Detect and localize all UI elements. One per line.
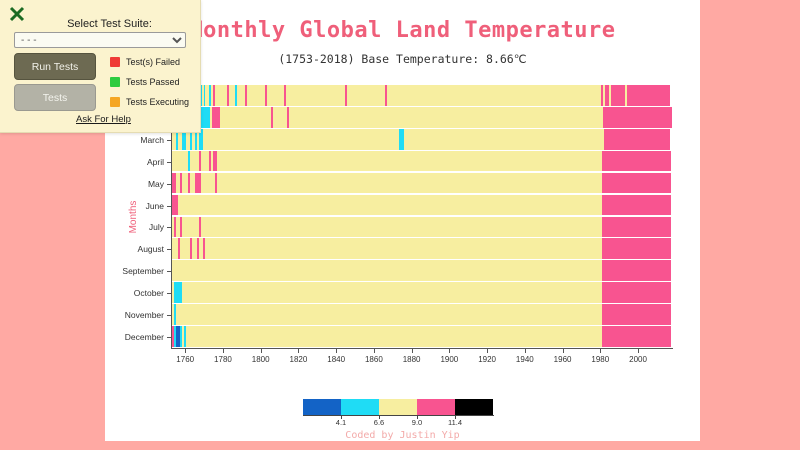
x-tick-mark xyxy=(185,348,186,353)
status-label: Test(s) Failed xyxy=(126,57,180,67)
ask-for-help-link[interactable]: Ask For Help xyxy=(76,114,131,125)
test-suite-label: Select Test Suite: xyxy=(0,18,201,30)
heatmap[interactable] xyxy=(172,85,672,348)
status-label: Tests Executing xyxy=(126,97,189,107)
legend-swatch xyxy=(379,399,417,415)
test-status-row: Tests Executing xyxy=(110,97,189,107)
y-tick-mark xyxy=(167,184,172,185)
x-tick-mark xyxy=(223,348,224,353)
y-tick-mark xyxy=(167,271,172,272)
x-tick-mark xyxy=(449,348,450,353)
x-tick-label: 1940 xyxy=(516,355,534,364)
x-tick-label: 1980 xyxy=(591,355,609,364)
plot-area: Months 176017801800182018401860188019001… xyxy=(172,85,672,348)
heatmap-cell[interactable] xyxy=(670,107,672,128)
test-status-row: Test(s) Failed xyxy=(110,57,180,67)
y-tick-label: June xyxy=(146,201,164,211)
heatmap-row xyxy=(172,304,672,325)
y-tick-mark xyxy=(167,337,172,338)
y-tick-mark xyxy=(167,293,172,294)
heatmap-cell[interactable] xyxy=(669,195,671,216)
heatmap-row xyxy=(172,238,672,259)
legend-swatch xyxy=(417,399,455,415)
legend-tick-label: 6.6 xyxy=(374,418,384,427)
x-tick-mark xyxy=(600,348,601,353)
x-tick-label: 1820 xyxy=(290,355,308,364)
test-status-row: Tests Passed xyxy=(110,77,180,87)
status-color-chip xyxy=(110,77,120,87)
heatmap-cell[interactable] xyxy=(669,151,671,172)
x-tick-label: 1920 xyxy=(478,355,496,364)
x-tick-mark xyxy=(298,348,299,353)
x-tick-label: 1860 xyxy=(365,355,383,364)
x-tick-label: 1880 xyxy=(403,355,421,364)
x-tick-label: 1840 xyxy=(327,355,345,364)
x-tick-mark xyxy=(487,348,488,353)
heatmap-row xyxy=(172,173,672,194)
heatmap-row xyxy=(172,260,672,281)
heatmap-row xyxy=(172,85,672,106)
heatmap-row xyxy=(172,326,672,347)
x-tick-label: 1900 xyxy=(440,355,458,364)
status-color-chip xyxy=(110,97,120,107)
x-tick-label: 1760 xyxy=(176,355,194,364)
x-tick-mark xyxy=(412,348,413,353)
y-tick-mark xyxy=(167,162,172,163)
tests-button[interactable]: Tests xyxy=(14,84,96,111)
y-tick-label: July xyxy=(149,222,164,232)
y-tick-label: November xyxy=(125,310,164,320)
x-tick-mark xyxy=(336,348,337,353)
heatmap-row xyxy=(172,217,672,238)
y-tick-label: March xyxy=(140,135,164,145)
heatmap-cell[interactable] xyxy=(669,260,671,281)
y-tick-label: December xyxy=(125,332,164,342)
heatmap-cell[interactable] xyxy=(669,326,671,347)
y-tick-mark xyxy=(167,206,172,207)
run-tests-button[interactable]: Run Tests xyxy=(14,53,96,80)
heatmap-row xyxy=(172,151,672,172)
y-tick-mark xyxy=(167,249,172,250)
x-tick-mark xyxy=(525,348,526,353)
heatmap-row xyxy=(172,107,672,128)
heatmap-row xyxy=(172,195,672,216)
y-tick-label: August xyxy=(138,244,164,254)
y-tick-mark xyxy=(167,227,172,228)
y-tick-mark xyxy=(167,140,172,141)
legend-swatch xyxy=(303,399,341,415)
status-label: Tests Passed xyxy=(126,77,180,87)
heatmap-row xyxy=(172,282,672,303)
legend-tick-label: 9.0 xyxy=(412,418,422,427)
legend-tick-label: 11.4 xyxy=(448,418,462,427)
x-axis-line xyxy=(172,348,673,349)
x-tick-mark xyxy=(563,348,564,353)
x-tick-label: 1780 xyxy=(214,355,232,364)
x-tick-mark xyxy=(374,348,375,353)
heatmap-row xyxy=(172,129,672,150)
y-tick-label: April xyxy=(147,157,164,167)
x-tick-mark xyxy=(638,348,639,353)
legend-tick-label: 4.1 xyxy=(336,418,346,427)
y-tick-label: May xyxy=(148,179,164,189)
legend-axis-line xyxy=(303,415,494,416)
x-tick-label: 2000 xyxy=(629,355,647,364)
y-tick-mark xyxy=(167,315,172,316)
color-legend xyxy=(303,399,493,415)
y-axis-title: Months xyxy=(128,200,139,233)
heatmap-cell[interactable] xyxy=(669,217,671,238)
heatmap-cell[interactable] xyxy=(668,129,670,150)
legend-swatch xyxy=(341,399,379,415)
heatmap-cell[interactable] xyxy=(668,85,670,106)
x-tick-label: 1800 xyxy=(252,355,270,364)
y-tick-label: October xyxy=(134,288,164,298)
heatmap-cell[interactable] xyxy=(669,238,671,259)
x-tick-mark xyxy=(261,348,262,353)
test-suite-modal: Select Test Suite: - - - Run Tests Tests… xyxy=(0,0,201,133)
heatmap-cell[interactable] xyxy=(669,173,671,194)
test-suite-select[interactable]: - - - xyxy=(14,32,186,48)
legend-swatch xyxy=(455,399,493,415)
credit-text: Coded by Justin Yip xyxy=(105,430,700,441)
x-tick-label: 1960 xyxy=(554,355,572,364)
heatmap-cell[interactable] xyxy=(669,282,671,303)
heatmap-cell[interactable] xyxy=(669,304,671,325)
status-color-chip xyxy=(110,57,120,67)
y-tick-label: September xyxy=(122,266,164,276)
